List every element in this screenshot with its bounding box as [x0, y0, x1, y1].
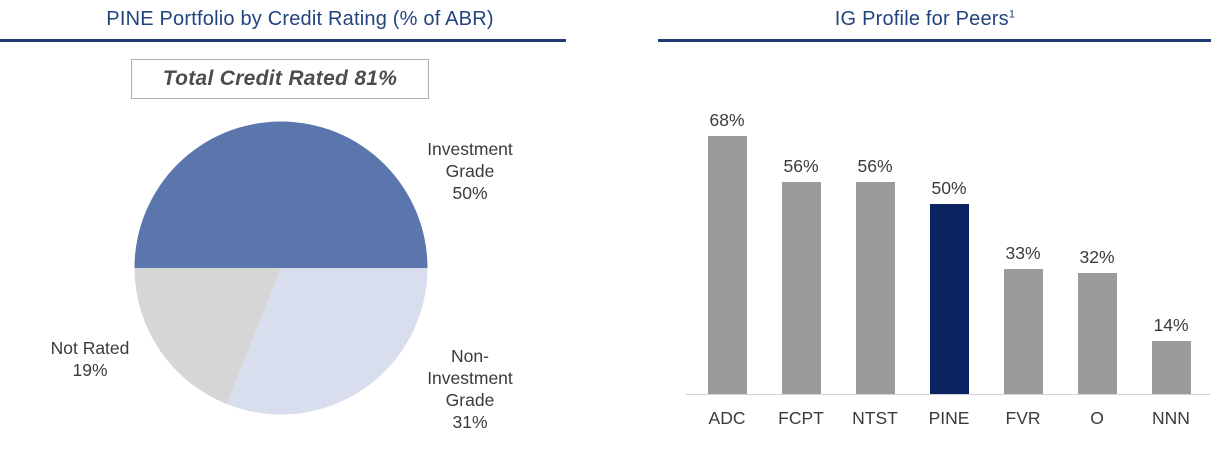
bar-value-label-fcpt: 56%: [783, 156, 818, 176]
bar-rect-pine[interactable]: [930, 204, 969, 394]
bar-category-label-ntst: NTST: [839, 408, 911, 429]
ig-profile-panel: IG Profile for Peers1 68%ADC56%FCPT56%NT…: [625, 0, 1225, 451]
bar-column-nnn[interactable]: 14%: [1135, 54, 1207, 394]
pie-label-investment-grade-value: 50%: [400, 182, 540, 204]
pie-label-investment-grade: Investment Grade 50%: [400, 138, 540, 204]
bar-column-pine[interactable]: 50%: [913, 54, 985, 394]
bar-category-label-adc: ADC: [691, 408, 763, 429]
pie-label-non-investment-grade-line3: Grade: [396, 389, 544, 411]
bar-rect-adc[interactable]: [708, 136, 747, 394]
bar-category-label-nnn: NNN: [1135, 408, 1207, 429]
bar-value-label-pine: 50%: [931, 178, 966, 198]
bar-value-label-ntst: 56%: [857, 156, 892, 176]
bar-rect-ntst[interactable]: [856, 182, 895, 394]
pie-label-not-rated: Not Rated 19%: [20, 337, 160, 381]
bar-rect-fvr[interactable]: [1004, 269, 1043, 394]
pie-label-investment-grade-line1: Investment: [400, 138, 540, 160]
bar-category-label-o: O: [1061, 408, 1133, 429]
credit-rating-panel: PINE Portfolio by Credit Rating (% of AB…: [0, 0, 600, 451]
bar-column-ntst[interactable]: 56%: [839, 54, 911, 394]
bar-rect-o[interactable]: [1078, 273, 1117, 394]
bar-chart-baseline-axis: [686, 394, 1210, 395]
bar-rect-fcpt[interactable]: [782, 182, 821, 394]
credit-rating-pie-chart: Investment Grade 50% Non- Investment Gra…: [0, 0, 600, 451]
pie-label-investment-grade-line2: Grade: [400, 160, 540, 182]
bar-column-adc[interactable]: 68%: [691, 54, 763, 394]
pie-label-not-rated-value: 19%: [20, 359, 160, 381]
ig-profile-bar-chart: 68%ADC56%FCPT56%NTST50%PINE33%FVR32%O14%…: [625, 0, 1225, 451]
bar-rect-nnn[interactable]: [1152, 341, 1191, 394]
pie-slice-group: [135, 121, 428, 414]
pie-label-non-investment-grade: Non- Investment Grade 31%: [396, 345, 544, 433]
bar-value-label-nnn: 14%: [1153, 315, 1188, 335]
bar-value-label-fvr: 33%: [1005, 243, 1040, 263]
bar-column-o[interactable]: 32%: [1061, 54, 1133, 394]
bar-column-fvr[interactable]: 33%: [987, 54, 1059, 394]
pie-label-non-investment-grade-value: 31%: [396, 411, 544, 433]
bar-category-label-fvr: FVR: [987, 408, 1059, 429]
pie-label-not-rated-line1: Not Rated: [20, 337, 160, 359]
pie-slice-investment-grade: [135, 121, 428, 268]
bar-category-label-fcpt: FCPT: [765, 408, 837, 429]
bar-column-fcpt[interactable]: 56%: [765, 54, 837, 394]
pie-label-non-investment-grade-line1: Non-: [396, 345, 544, 367]
bar-value-label-o: 32%: [1079, 247, 1114, 267]
pie-label-non-investment-grade-line2: Investment: [396, 367, 544, 389]
bar-category-label-pine: PINE: [913, 408, 985, 429]
bar-value-label-adc: 68%: [709, 110, 744, 130]
